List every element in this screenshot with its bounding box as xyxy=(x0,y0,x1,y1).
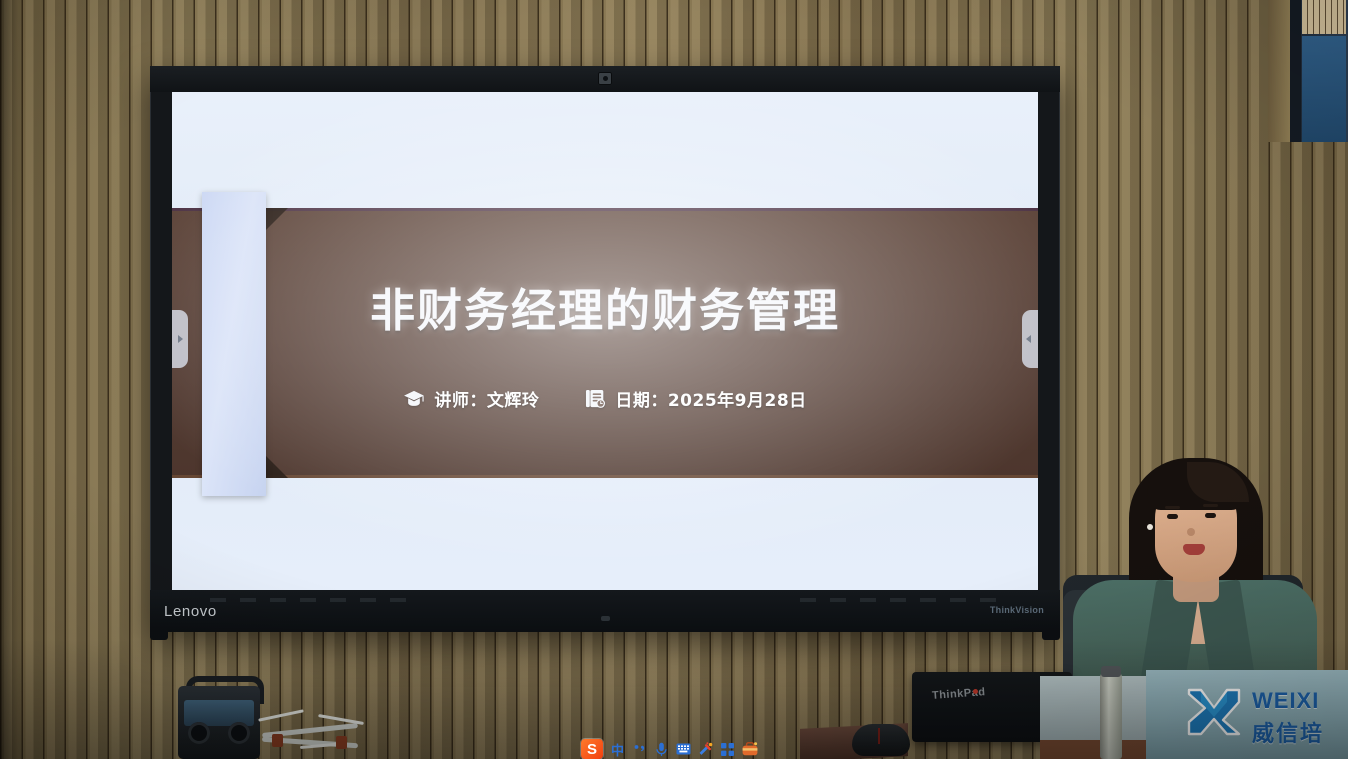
punctuation-toggle[interactable] xyxy=(632,740,647,758)
voice-input[interactable] xyxy=(654,740,669,758)
apps-grid-icon[interactable] xyxy=(720,740,735,758)
lecture-room-scene: 非财务经理的财务管理 讲师：文辉玲 xyxy=(0,0,1348,759)
sogou-logo-icon[interactable]: S xyxy=(581,739,603,759)
soft-keyboard[interactable] xyxy=(676,740,691,758)
magic-wand-icon[interactable] xyxy=(698,740,713,758)
scene-vignette xyxy=(0,0,1348,759)
input-mode-chinese[interactable]: 中 xyxy=(610,740,625,758)
toolbox-icon[interactable] xyxy=(742,740,758,758)
sogou-input-method-toolbar[interactable]: S 中 xyxy=(575,739,764,759)
